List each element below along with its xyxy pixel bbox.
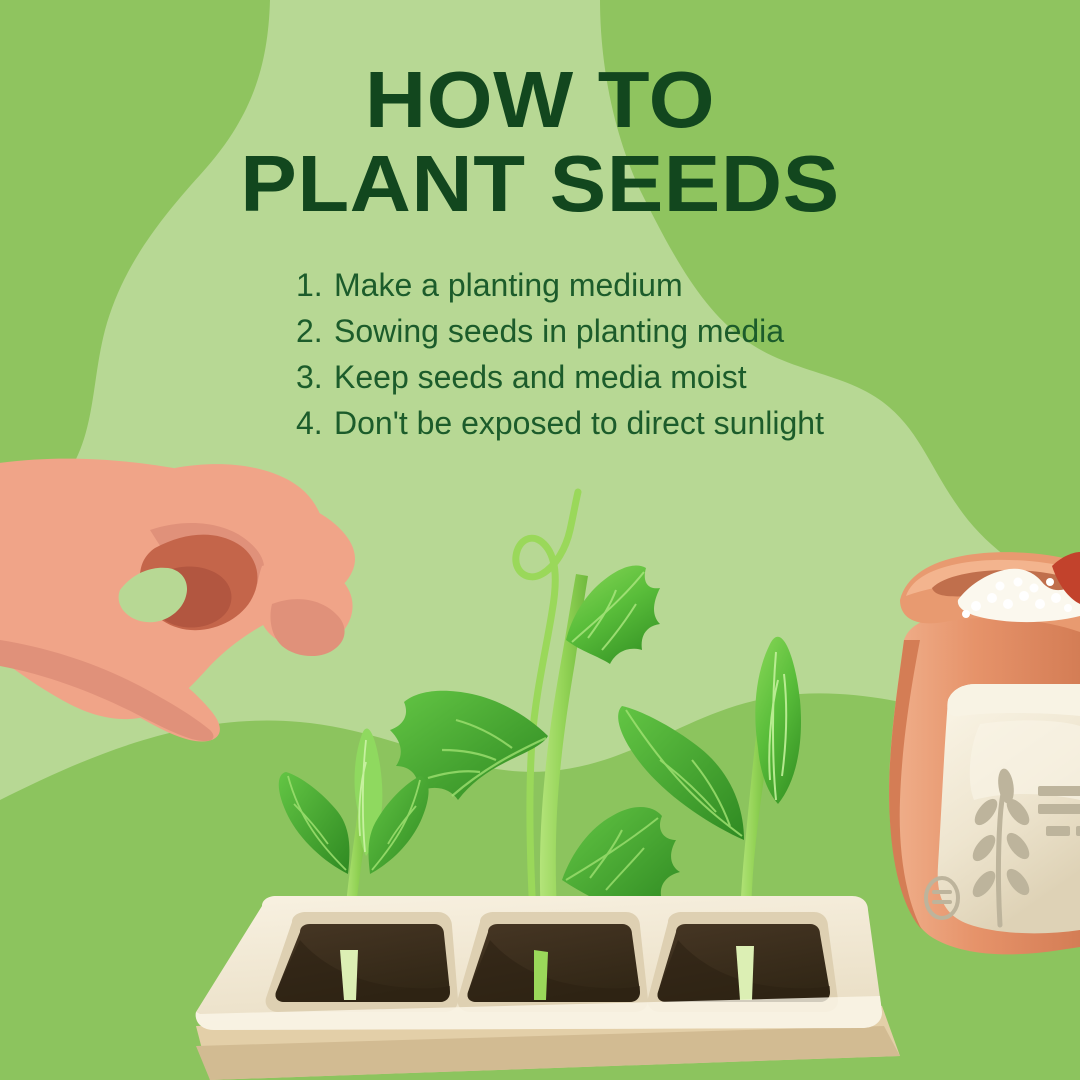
- step-number: 4.: [296, 406, 334, 440]
- step-number: 1.: [296, 268, 334, 302]
- step-number: 3.: [296, 360, 334, 394]
- list-item: 2. Sowing seeds in planting media: [296, 314, 996, 348]
- step-text: Make a planting medium: [334, 268, 996, 302]
- list-item: 3. Keep seeds and media moist: [296, 360, 996, 394]
- step-text: Don't be exposed to direct sunlight: [334, 406, 996, 440]
- steps-list: 1. Make a planting medium 2. Sowing seed…: [296, 268, 996, 452]
- step-number: 2.: [296, 314, 334, 348]
- title-line-1: HOW TO: [0, 58, 1080, 142]
- list-item: 1. Make a planting medium: [296, 268, 996, 302]
- step-text: Keep seeds and media moist: [334, 360, 996, 394]
- title-line-2: PLANT SEEDS: [0, 142, 1080, 226]
- step-text: Sowing seeds in planting media: [334, 314, 996, 348]
- text-layer: HOW TO PLANT SEEDS 1. Make a planting me…: [0, 0, 1080, 1080]
- infographic-poster: HOW TO PLANT SEEDS 1. Make a planting me…: [0, 0, 1080, 1080]
- page-title: HOW TO PLANT SEEDS: [0, 58, 1080, 226]
- list-item: 4. Don't be exposed to direct sunlight: [296, 406, 996, 440]
